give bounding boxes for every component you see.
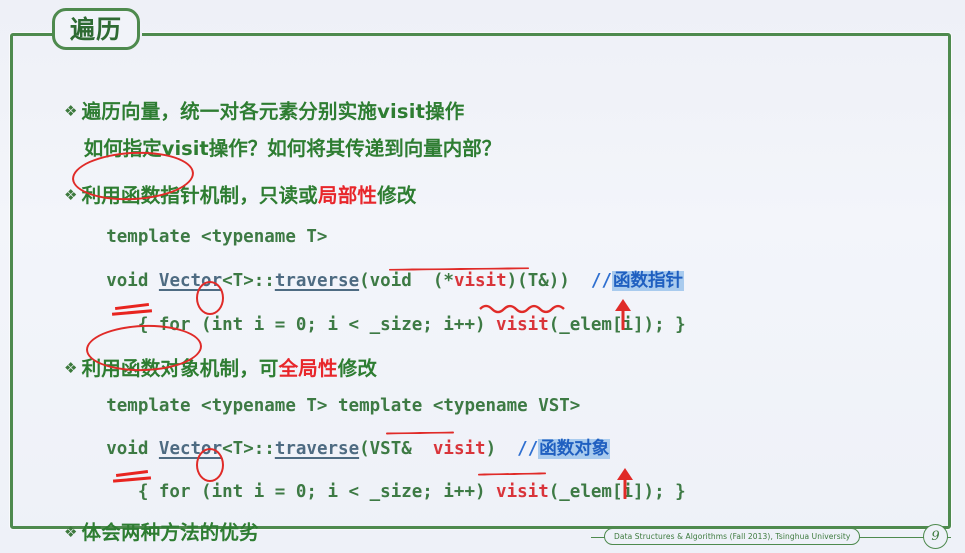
code-l2-comment-slashes: // <box>591 271 612 291</box>
code-l5-comment-slashes: // <box>517 439 538 459</box>
code-l2-p4: )(T&)) <box>507 271 591 291</box>
code-l5-ident-vector: Vector <box>159 439 222 459</box>
code-l2-p1: void <box>106 271 159 291</box>
code-l5-p2: <T>:: <box>222 439 275 459</box>
code-l2-p3: (void (* <box>359 271 454 291</box>
code-l6-p2: (_elem[i]); } <box>549 482 686 502</box>
code-l5-comment-text: 函数对象 <box>538 439 610 459</box>
code-l3-p2: (_elem[i]); } <box>549 315 686 335</box>
code-l5-p1: void <box>106 439 159 459</box>
code-l2-visit: visit <box>454 271 507 291</box>
slide-canvas: 遍历 ❖遍历向量，统一对各元素分别实施visit操作 如何指定visit操作？如… <box>0 0 965 553</box>
bullet-2-red: 局部性 <box>318 184 377 207</box>
code-l2-ident-traverse: traverse <box>275 271 359 291</box>
bullet-3-red: 全局性 <box>279 357 338 380</box>
page-number: 9 <box>931 529 939 544</box>
code-l6-visit: visit <box>496 482 549 502</box>
code-l2-ident-vector: Vector <box>159 271 222 291</box>
code-l3-p1: { for (int i = 0; i < _size; i++) <box>106 315 496 335</box>
code-l6-p1: { for (int i = 0; i < _size; i++) <box>106 482 496 502</box>
page-title: 遍历 <box>70 17 122 42</box>
page-number-badge: 9 <box>923 524 948 549</box>
bullet-2-post: 修改 <box>377 184 416 207</box>
bullet-diamond-icon: ❖ <box>64 359 78 377</box>
bullet-1-sub-text: 如何指定visit操作？如何将其传递到向量内部？ <box>84 137 502 160</box>
code-l5-p3: (VST& <box>359 439 433 459</box>
bullet-diamond-icon: ❖ <box>64 186 78 204</box>
bullet-3-pre: 利用函数对象机制，可 <box>82 357 279 380</box>
code-l5-p4: ) <box>486 439 518 459</box>
bullet-4-text: 体会两种方法的优劣 <box>82 521 259 544</box>
footer-credit-text: Data Structures & Algorithms (Fall 2013)… <box>614 532 850 541</box>
bullet-compare-methods: ❖体会两种方法的优劣 <box>22 503 259 553</box>
code-l2-p2: <T>:: <box>222 271 275 291</box>
bullet-diamond-icon: ❖ <box>64 523 78 541</box>
slide-content: ❖遍历向量，统一对各元素分别实施visit操作 如何指定visit操作？如何将其… <box>22 40 932 510</box>
bullet-2-pre: 利用函数指针机制，只读或 <box>82 184 318 207</box>
code-l3-visit: visit <box>496 315 549 335</box>
code-l2-comment-text: 函数指针 <box>612 271 684 291</box>
code-l5-ident-traverse: traverse <box>275 439 359 459</box>
code-line-4-text: template <typename T> template <typename… <box>106 396 580 416</box>
bullet-diamond-icon: ❖ <box>64 102 78 120</box>
code-l5-visit: visit <box>433 439 486 459</box>
code-line-1-text: template <typename T> <box>106 227 327 247</box>
bullet-3-post: 修改 <box>338 357 377 380</box>
footer-credit-badge: Data Structures & Algorithms (Fall 2013)… <box>604 528 860 545</box>
